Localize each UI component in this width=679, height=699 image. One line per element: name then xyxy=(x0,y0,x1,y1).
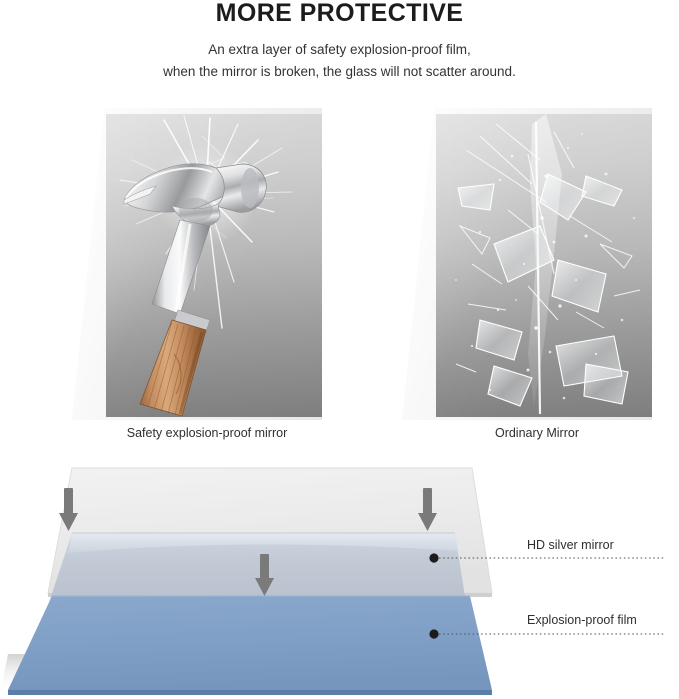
subtitle-line-2: when the mirror is broken, the glass wil… xyxy=(0,61,679,83)
safety-mirror-image xyxy=(106,114,322,417)
layer-bottom-plate xyxy=(8,596,492,695)
page-title: MORE PROTECTIVE xyxy=(0,0,679,28)
comparison-section: Safety explosion-proof mirror xyxy=(0,104,679,454)
label-explosion-proof-film: Explosion-proof film xyxy=(527,613,637,627)
ordinary-mirror-image xyxy=(436,114,652,417)
mirror-sheen-left xyxy=(106,114,322,417)
comparison-panel-right: Ordinary Mirror xyxy=(402,104,672,454)
header: MORE PROTECTIVE An extra layer of safety… xyxy=(0,0,679,83)
layer-diagram: HD silver mirror Explosion-proof film xyxy=(0,458,679,699)
label-hd-silver-mirror: HD silver mirror xyxy=(527,538,614,552)
layer-diagram-svg xyxy=(0,458,679,699)
subtitle-line-1: An extra layer of safety explosion-proof… xyxy=(0,39,679,61)
caption-safety-mirror: Safety explosion-proof mirror xyxy=(72,426,342,440)
leader-dot-bottom xyxy=(429,629,438,638)
mirror-sheen-right xyxy=(436,114,652,417)
comparison-panel-left: Safety explosion-proof mirror xyxy=(72,104,342,454)
page-subtitle: An extra layer of safety explosion-proof… xyxy=(0,39,679,83)
leader-dot-top xyxy=(429,553,438,562)
caption-ordinary-mirror: Ordinary Mirror xyxy=(402,426,672,440)
